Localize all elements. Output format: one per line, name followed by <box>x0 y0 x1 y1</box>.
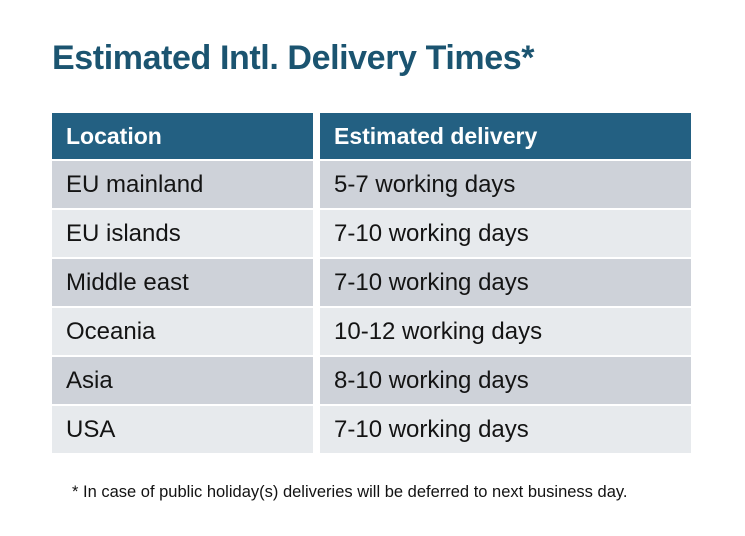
cell-estimated-delivery: 7-10 working days <box>320 406 691 453</box>
cell-location: USA <box>52 406 313 453</box>
footnote-text: * In case of public holiday(s) deliverie… <box>72 481 627 503</box>
table-row: EU islands 7-10 working days <box>52 210 691 257</box>
table-row: Asia 8-10 working days <box>52 357 691 404</box>
table-header-row: Location Estimated delivery <box>52 113 691 159</box>
delivery-times-table: Location Estimated delivery EU mainland … <box>52 113 691 455</box>
cell-estimated-delivery: 8-10 working days <box>320 357 691 404</box>
cell-location: Oceania <box>52 308 313 355</box>
cell-location: Middle east <box>52 259 313 306</box>
cell-estimated-delivery: 10-12 working days <box>320 308 691 355</box>
cell-location: Asia <box>52 357 313 404</box>
table-row: USA 7-10 working days <box>52 406 691 453</box>
table-row: EU mainland 5-7 working days <box>52 161 691 208</box>
cell-estimated-delivery: 7-10 working days <box>320 259 691 306</box>
cell-location: EU mainland <box>52 161 313 208</box>
table-row: Oceania 10-12 working days <box>52 308 691 355</box>
page-title: Estimated Intl. Delivery Times* <box>52 36 534 80</box>
cell-estimated-delivery: 7-10 working days <box>320 210 691 257</box>
delivery-times-page: Estimated Intl. Delivery Times* Location… <box>0 0 745 536</box>
cell-estimated-delivery: 5-7 working days <box>320 161 691 208</box>
column-header-estimated-delivery: Estimated delivery <box>320 113 691 159</box>
cell-location: EU islands <box>52 210 313 257</box>
column-header-location: Location <box>52 113 313 159</box>
table-row: Middle east 7-10 working days <box>52 259 691 306</box>
